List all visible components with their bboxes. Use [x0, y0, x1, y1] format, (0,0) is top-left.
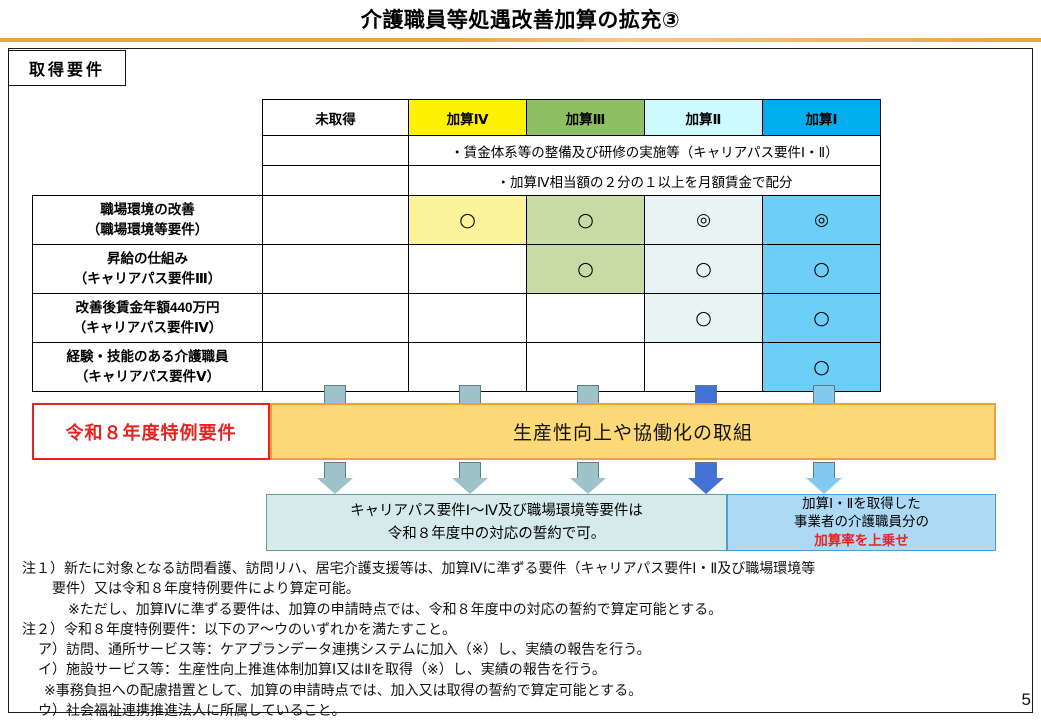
header-kasan-4: 加算Ⅳ — [409, 100, 527, 136]
rate-bonus-line3: 加算率を上乗せ — [814, 532, 909, 550]
mark: ○ — [813, 258, 830, 280]
cell-r0-kasan2: ◎ — [645, 196, 763, 245]
special-requirement-band: 生産性向上や協働化の取組 — [270, 403, 996, 460]
cell-r0-kasan3: ○ — [527, 196, 645, 245]
rate-bonus-box: 加算Ⅰ・Ⅱを取得した 事業者の介護職員分の 加算率を上乗せ — [727, 494, 996, 551]
cell-r3-kasan1: ○ — [763, 343, 881, 392]
table-row: 経験・技能のある介護職員 （キャリアパス要件Ⅴ） ○ — [33, 343, 881, 392]
matrix-header-row: 未取得 加算Ⅳ 加算Ⅲ 加算Ⅱ 加算Ⅰ — [33, 100, 881, 136]
cell-r3-not-acquired — [263, 343, 409, 392]
cell-r1-not-acquired — [263, 245, 409, 294]
rate-bonus-line2: 事業者の介護職員分の — [794, 513, 929, 531]
row-label-line1: 昇給の仕組み — [107, 251, 188, 266]
matrix-spanning-row-1: ・賃金体系等の整備及び研修の実施等（キャリアパス要件Ⅰ・Ⅱ） — [33, 136, 881, 166]
mark: ○ — [813, 356, 830, 378]
row-label-line2: （キャリアパス要件Ⅲ） — [74, 271, 222, 286]
cell-r3-kasan3 — [527, 343, 645, 392]
row-label-line1: 経験・技能のある介護職員 — [67, 349, 229, 364]
cell-r1-kasan4 — [409, 245, 527, 294]
cell-r3-kasan4 — [409, 343, 527, 392]
header-kasan-1: 加算Ⅰ — [763, 100, 881, 136]
cell-r0-kasan1: ◎ — [763, 196, 881, 245]
mark: ○ — [695, 307, 712, 329]
rate-bonus-line1: 加算Ⅰ・Ⅱを取得した — [802, 495, 921, 513]
header-kasan-2: 加算Ⅱ — [645, 100, 763, 136]
cell-r1-kasan3: ○ — [527, 245, 645, 294]
spacer-cell — [33, 166, 263, 196]
table-row: 昇給の仕組み （キャリアパス要件Ⅲ） ○ ○ ○ — [33, 245, 881, 294]
header-not-acquired: 未取得 — [263, 100, 409, 136]
spanning-2-not-acquired — [263, 166, 409, 196]
section-tab-acquisition-requirements: 取得要件 — [8, 50, 126, 86]
row-label-pay-raise-structure: 昇給の仕組み （キャリアパス要件Ⅲ） — [33, 245, 263, 294]
mark: ○ — [813, 307, 830, 329]
spanning-1-not-acquired — [263, 136, 409, 166]
row-label-workplace-environment: 職場環境の改善 （職場環境等要件） — [33, 196, 263, 245]
row-label-line1: 改善後賃金年額440万円 — [75, 300, 219, 315]
special-requirement-row: 令和８年度特例要件 生産性向上や協働化の取組 — [32, 403, 996, 460]
table-row: 改善後賃金年額440万円 （キャリアパス要件Ⅳ） ○ ○ — [33, 294, 881, 343]
row-label-line1: 職場環境の改善 — [100, 202, 195, 217]
cell-r2-kasan2: ○ — [645, 294, 763, 343]
footnotes: 注１）新たに対象となる訪問看護、訪問リハ、居宅介護支援等は、加算Ⅳに準ずる要件（… — [22, 558, 1012, 720]
cell-r1-kasan1: ○ — [763, 245, 881, 294]
row-label-experienced-staff: 経験・技能のある介護職員 （キャリアパス要件Ⅴ） — [33, 343, 263, 392]
cell-r2-kasan3 — [527, 294, 645, 343]
footnote-line: 注２）令和８年度特例要件：以下のア～ウのいずれかを満たすこと。 — [22, 619, 1012, 639]
table-row: 職場環境の改善 （職場環境等要件） ○ ○ ◎ ◎ — [33, 196, 881, 245]
header-kasan-3: 加算Ⅲ — [527, 100, 645, 136]
cell-r2-not-acquired — [263, 294, 409, 343]
row-label-line2: （職場環境等要件） — [87, 222, 209, 237]
cell-r0-kasan4: ○ — [409, 196, 527, 245]
matrix-spanning-row-2: ・加算Ⅳ相当額の２分の１以上を月額賃金で配分 — [33, 166, 881, 196]
footnote-line: イ）施設サービス等：生産性向上推進体制加算Ⅰ又はⅡを取得（※）し、実績の報告を行… — [22, 659, 1012, 679]
mark: ◎ — [814, 210, 829, 230]
footnote-line: 注１）新たに対象となる訪問看護、訪問リハ、居宅介護支援等は、加算Ⅳに準ずる要件（… — [22, 558, 1012, 578]
cell-r2-kasan4 — [409, 294, 527, 343]
row-label-annual-wage-4.4m: 改善後賃金年額440万円 （キャリアパス要件Ⅳ） — [33, 294, 263, 343]
cell-r1-kasan2: ○ — [645, 245, 763, 294]
spacer-cell — [33, 136, 263, 166]
row-label-line2: （キャリアパス要件Ⅴ） — [75, 369, 220, 384]
mark: ○ — [695, 258, 712, 280]
pledge-note-box: キャリアパス要件Ⅰ～Ⅳ及び職場環境等要件は 令和８年度中の対応の誓約で可。 — [266, 494, 727, 551]
mark: ○ — [577, 258, 594, 280]
footnote-line: ウ）社会福祉連携推進法人に所属していること。 — [22, 700, 1012, 720]
requirements-matrix: 未取得 加算Ⅳ 加算Ⅲ 加算Ⅱ 加算Ⅰ ・賃金体系等の整備及び研修の実施等（キャ… — [32, 99, 881, 392]
spanning-requirement-2: ・加算Ⅳ相当額の２分の１以上を月額賃金で配分 — [409, 166, 881, 196]
spanning-requirement-1: ・賃金体系等の整備及び研修の実施等（キャリアパス要件Ⅰ・Ⅱ） — [409, 136, 881, 166]
header-blank — [33, 100, 263, 136]
row-label-line2: （キャリアパス要件Ⅳ） — [73, 320, 223, 335]
footnote-line: ※ただし、加算Ⅳに準ずる要件は、加算の申請時点では、令和８年度中の対応の誓約で算… — [22, 599, 1012, 619]
page-number: 5 — [1022, 690, 1031, 710]
mark: ○ — [577, 209, 594, 231]
title-bar: 介護職員等処遇改善加算の拡充③ — [0, 0, 1041, 38]
cell-r2-kasan1: ○ — [763, 294, 881, 343]
mark: ○ — [459, 209, 476, 231]
cell-r3-kasan2 — [645, 343, 763, 392]
footnote-line: ※事務負担への配慮措置として、加算の申請時点では、加入又は取得の誓約で算定可能と… — [22, 680, 1012, 700]
page-title: 介護職員等処遇改善加算の拡充③ — [361, 4, 680, 34]
special-requirement-label: 令和８年度特例要件 — [32, 403, 270, 460]
footnote-line: ア）訪問、通所サービス等：ケアプランデータ連携システムに加入（※）し、実績の報告… — [22, 639, 1012, 659]
mark: ◎ — [696, 210, 711, 230]
pledge-note-line1: キャリアパス要件Ⅰ～Ⅳ及び職場環境等要件は — [350, 500, 643, 522]
pledge-note-line2: 令和８年度中の対応の誓約で可。 — [388, 523, 606, 545]
cell-r0-not-acquired — [263, 196, 409, 245]
title-divider — [0, 38, 1041, 42]
footnote-line: 要件）又は令和８年度特例要件により算定可能。 — [22, 578, 1012, 598]
